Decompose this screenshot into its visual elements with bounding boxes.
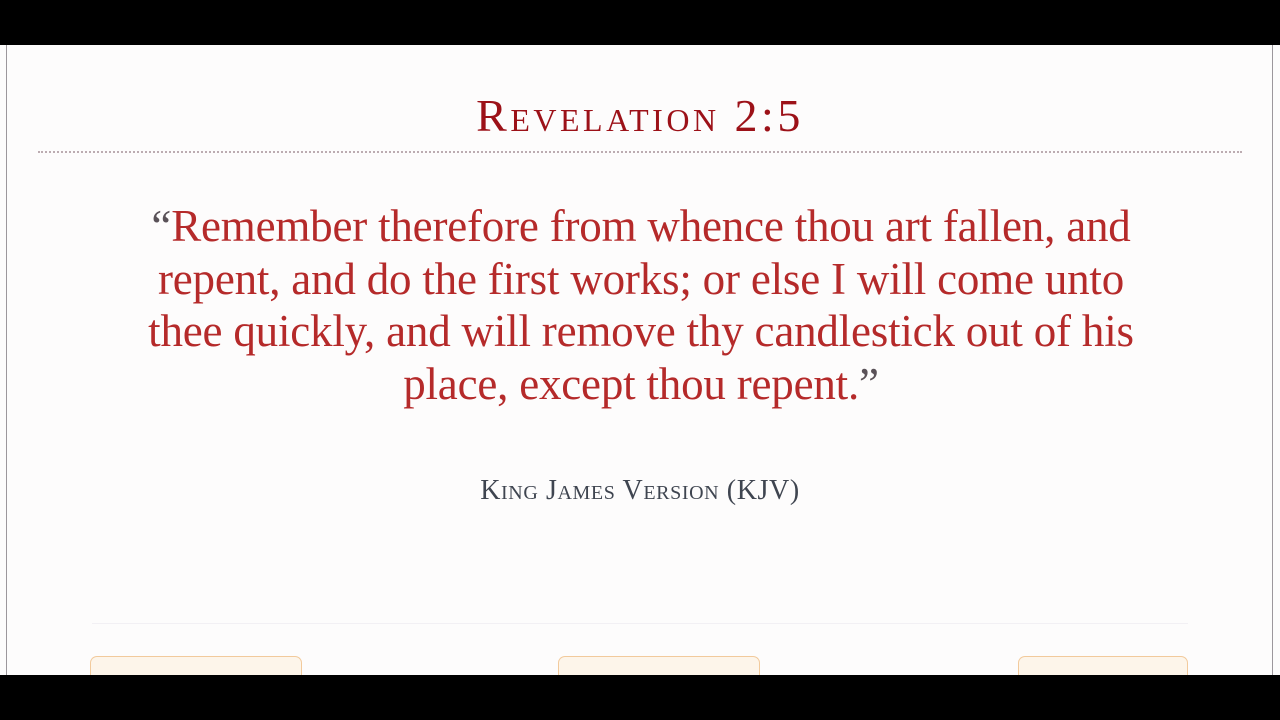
quote-line-2: repent, and do the first works; or else … xyxy=(96,253,1186,306)
slide-border-left xyxy=(6,45,7,675)
scripture-quote: “Remember therefore from whence thou art… xyxy=(96,200,1186,410)
title-block: Revelation 2:5 xyxy=(38,90,1242,153)
bottom-callout-box-2 xyxy=(558,656,760,675)
bottom-callout-box-3 xyxy=(1018,656,1188,675)
bottom-callout-box-1 xyxy=(90,656,302,675)
video-stage: Revelation 2:5 “Remember therefore from … xyxy=(0,0,1280,720)
letterbox-bottom xyxy=(0,675,1280,720)
quote-line-1: “Remember therefore from whence thou art… xyxy=(96,200,1186,253)
bottom-divider xyxy=(92,623,1188,624)
open-quote-mark: “ xyxy=(151,201,171,251)
quote-line-4: place, except thou repent.” xyxy=(96,358,1186,411)
presentation-slide: Revelation 2:5 “Remember therefore from … xyxy=(0,45,1280,675)
page-title: Revelation 2:5 xyxy=(38,90,1242,142)
bible-version-attribution: King James Version (KJV) xyxy=(0,475,1280,507)
quote-line-4-text: place, except thou repent. xyxy=(403,359,859,409)
letterbox-top xyxy=(0,0,1280,45)
title-divider xyxy=(38,151,1242,153)
slide-border-right xyxy=(1272,45,1273,675)
close-quote-mark: ” xyxy=(859,359,879,409)
quote-line-3: thee quickly, and will remove thy candle… xyxy=(96,305,1186,358)
quote-line-1-text: Remember therefore from whence thou art … xyxy=(171,201,1130,251)
